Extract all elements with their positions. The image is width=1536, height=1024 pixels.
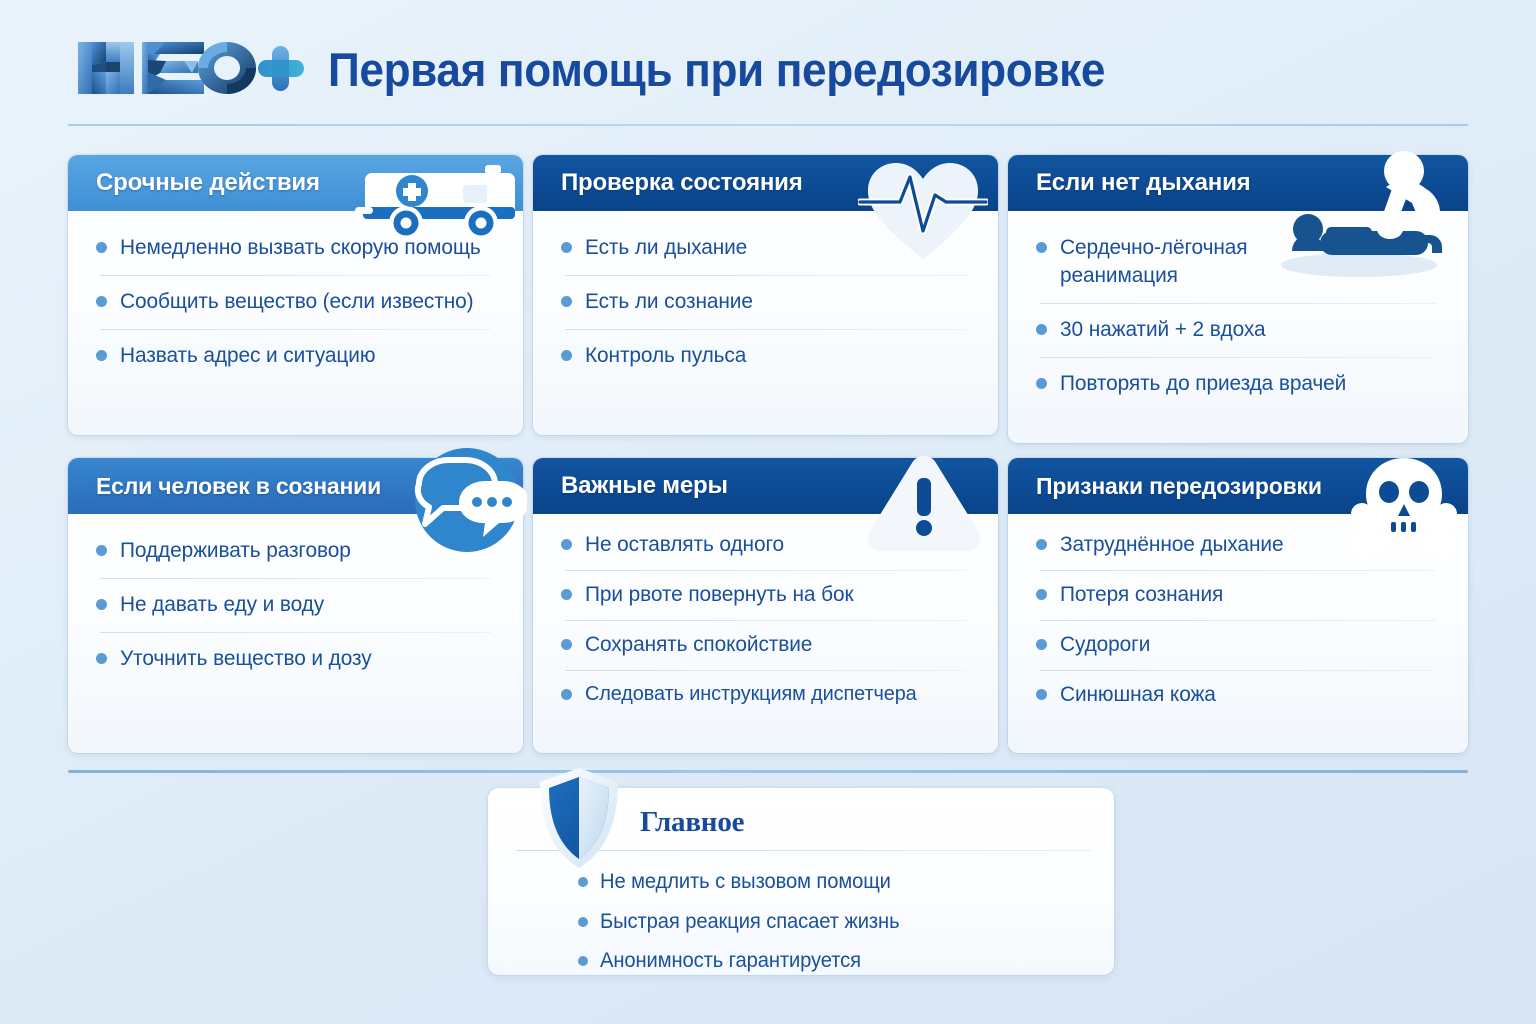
bullet-dot	[96, 242, 107, 253]
list-item[interactable]: Потеря сознания	[1034, 570, 1442, 620]
card-title: Проверка состояния	[561, 169, 803, 197]
card-header: Проверка состояния	[533, 155, 998, 211]
list-item[interactable]: Есть ли дыхание	[559, 221, 972, 275]
bullet-dot	[96, 599, 107, 610]
list-item-label: Повторять до приезда врачей	[1060, 370, 1346, 398]
list-item-label: 30 нажатий + 2 вдоха	[1060, 316, 1265, 344]
list-item[interactable]: Следовать инструкциям диспетчера	[559, 670, 972, 719]
card-header: Срочные действия	[68, 155, 523, 211]
list-item[interactable]: Сообщить вещество (если известно)	[94, 275, 497, 329]
card-title: Важные меры	[561, 472, 728, 500]
card-body: Есть ли дыхание Есть ли сознание Контрол…	[533, 211, 998, 403]
list-item-label: Немедленно вызвать скорую помощь	[120, 234, 481, 262]
bullet-dot	[561, 539, 572, 550]
list-item[interactable]: Немедленно вызвать скорую помощь	[94, 221, 497, 275]
footer-title: Главное	[640, 806, 744, 839]
bullet-dot	[1036, 324, 1047, 335]
footer-list: Не медлить с вызовом помощи Быстрая реак…	[578, 862, 1098, 981]
bullet-dot	[561, 639, 572, 650]
list-item[interactable]: Судороги	[1034, 620, 1442, 670]
card-title: Если нет дыхания	[1036, 169, 1250, 197]
list-item-label: Судороги	[1060, 631, 1150, 659]
infographic-page: Первая помощь при передозировке Срочные …	[0, 0, 1536, 1024]
bullet-dot	[578, 956, 588, 966]
list-item[interactable]: При рвоте повернуть на бок	[559, 570, 972, 620]
shield-icon	[536, 766, 622, 870]
list-item-label: Уточнить вещество и дозу	[120, 645, 372, 673]
list-item[interactable]: Сохранять спокойствие	[559, 620, 972, 670]
card-body: Затруднённое дыхание Потеря сознания Суд…	[1008, 514, 1468, 732]
list-item[interactable]: Не давать еду и воду	[94, 578, 497, 632]
list-item-label: Сообщить вещество (если известно)	[120, 288, 473, 316]
bullet-dot	[1036, 639, 1047, 650]
card-header: Признаки передозировки	[1008, 458, 1468, 514]
page-title: Первая помощь при передозировке	[328, 42, 1105, 97]
card-important-measures[interactable]: Важные меры Не оставлять одного	[533, 458, 998, 753]
bullet-dot	[1036, 689, 1047, 700]
list-item[interactable]: Поддерживать разговор	[94, 524, 497, 578]
card-title: Срочные действия	[96, 169, 320, 197]
list-item[interactable]: Анонимность гарантируется	[578, 941, 1098, 981]
card-title: Признаки передозировки	[1036, 473, 1322, 500]
bullet-dot	[1036, 539, 1047, 550]
list-item[interactable]: Уточнить вещество и дозу	[94, 632, 497, 686]
card-overdose-signs[interactable]: Признаки передозировки	[1008, 458, 1468, 753]
list-item-label: Не оставлять одного	[585, 531, 784, 559]
card-no-breathing[interactable]: Если нет дыхания	[1008, 155, 1468, 443]
list-item[interactable]: Сердечно-лёгочная реанимация	[1034, 221, 1442, 303]
bullet-dot	[1036, 378, 1047, 389]
card-body: Не оставлять одного При рвоте повернуть …	[533, 514, 998, 730]
bullet-dot	[96, 296, 107, 307]
bullet-dot	[96, 545, 107, 556]
list-item[interactable]: Контроль пульса	[559, 329, 972, 383]
list-item[interactable]: Повторять до приезда врачей	[1034, 357, 1442, 411]
card-header: Если нет дыхания	[1008, 155, 1468, 211]
list-item[interactable]: Назвать адрес и ситуацию	[94, 329, 497, 383]
bullet-dot	[561, 242, 572, 253]
card-body: Немедленно вызвать скорую помощь Сообщит…	[68, 211, 523, 403]
bullet-dot	[96, 653, 107, 664]
header-divider	[68, 124, 1468, 126]
bullet-dot	[96, 350, 107, 361]
list-item[interactable]: Есть ли сознание	[559, 275, 972, 329]
list-item[interactable]: Быстрая реакция спасает жизнь	[578, 902, 1098, 942]
footer-divider	[68, 770, 1468, 773]
card-person-conscious[interactable]: Если человек в сознании Поддерживать р	[68, 458, 523, 753]
bullet-dot	[578, 917, 588, 927]
bullet-dot	[561, 689, 572, 700]
card-header: Если человек в сознании	[68, 458, 523, 514]
list-item-label: Анонимность гарантируется	[600, 947, 861, 975]
card-body: Поддерживать разговор Не давать еду и во…	[68, 514, 523, 706]
bullet-dot	[561, 589, 572, 600]
page-header: Первая помощь при передозировке	[0, 0, 1536, 128]
bullet-dot	[561, 350, 572, 361]
list-item-label: Синюшная кожа	[1060, 681, 1216, 709]
card-header: Важные меры	[533, 458, 998, 514]
bullet-dot	[1036, 242, 1047, 253]
list-item-label: Быстрая реакция спасает жизнь	[600, 908, 899, 936]
list-item-label: Затруднённое дыхание	[1060, 531, 1283, 559]
card-title: Если человек в сознании	[96, 473, 381, 500]
list-item[interactable]: Затруднённое дыхание	[1034, 520, 1442, 570]
bullet-dot	[561, 296, 572, 307]
list-item-label: Есть ли дыхание	[585, 234, 747, 262]
neo-plus-logo	[74, 32, 306, 104]
list-item[interactable]: Не оставлять одного	[559, 520, 972, 570]
card-condition-check[interactable]: Проверка состояния Есть ли дыхание	[533, 155, 998, 435]
list-item-label: Не давать еду и воду	[120, 591, 324, 619]
list-item-label: Потеря сознания	[1060, 581, 1223, 609]
list-item-label: Контроль пульса	[585, 342, 746, 370]
list-item-label: Следовать инструкциям диспетчера	[585, 681, 917, 708]
card-body: Сердечно-лёгочная реанимация 30 нажатий …	[1008, 211, 1468, 431]
list-item-label: Сохранять спокойствие	[585, 631, 812, 659]
list-item-label: Поддерживать разговор	[120, 537, 351, 565]
list-item-label: Назвать адрес и ситуацию	[120, 342, 375, 370]
list-item-label: Сердечно-лёгочная реанимация	[1060, 234, 1304, 290]
list-item-label: Есть ли сознание	[585, 288, 753, 316]
list-item[interactable]: Синюшная кожа	[1034, 670, 1442, 720]
bullet-dot	[578, 877, 588, 887]
list-item-label: Не медлить с вызовом помощи	[600, 868, 891, 896]
list-item[interactable]: Не медлить с вызовом помощи	[578, 862, 1098, 902]
footer-card-main-points[interactable]: Главное Не медлить с вызовом помощи Быст…	[488, 788, 1114, 975]
card-urgent-actions[interactable]: Срочные действия	[68, 155, 523, 435]
list-item[interactable]: 30 нажатий + 2 вдоха	[1034, 303, 1442, 357]
list-item-label: При рвоте повернуть на бок	[585, 581, 853, 609]
bullet-dot	[1036, 589, 1047, 600]
